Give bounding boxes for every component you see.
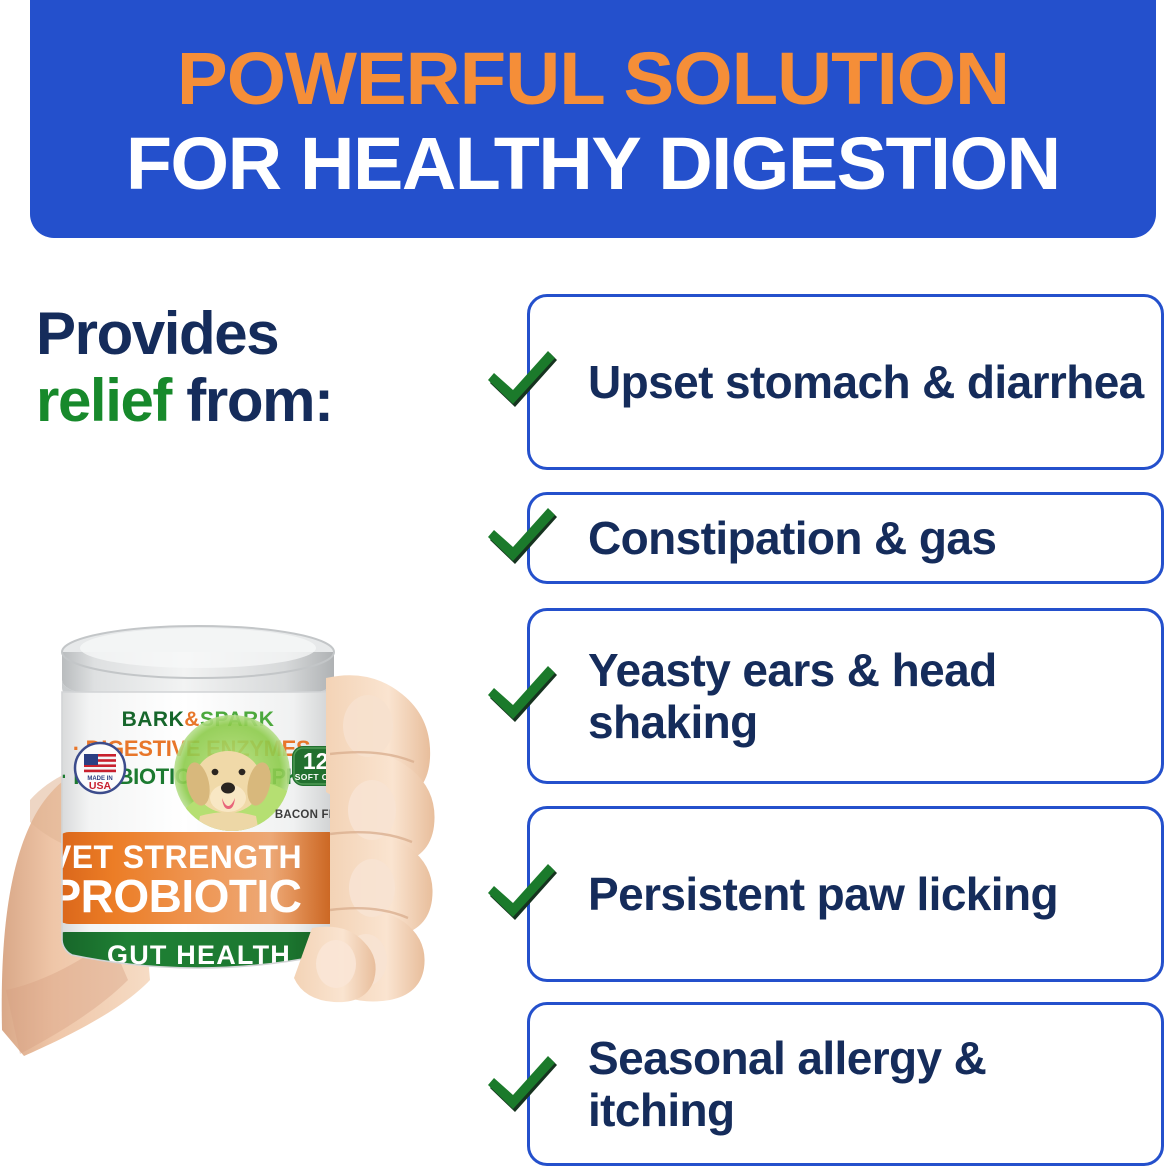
benefit-box-5: Seasonal allergy & itching: [527, 1002, 1164, 1166]
benefit-label-3: Yeasty ears & head shaking: [530, 644, 1161, 749]
headline-word-relief: relief: [36, 367, 171, 434]
benefit-box-2: Constipation & gas: [527, 492, 1164, 584]
benefit-label-1: Upset stomach & diarrhea: [530, 356, 1160, 408]
benefit-box-3: Yeasty ears & head shaking: [527, 608, 1164, 784]
product-photo-hand-holding-jar: BARK&SPARK · DIGESTIVE ENZYMES · · PREBI…: [0, 560, 470, 1060]
headline-word-from: from:: [186, 367, 332, 434]
benefit-box-1: Upset stomach & diarrhea: [527, 294, 1164, 470]
header-banner: POWERFUL SOLUTION FOR HEALTHY DIGESTION: [30, 0, 1156, 238]
badge-usa: USA: [89, 780, 112, 792]
benefit-label-4: Persistent paw licking: [530, 868, 1074, 920]
product-title-line-2: PROBIOTIC: [50, 870, 301, 922]
benefit-box-4: Persistent paw licking: [527, 806, 1164, 982]
benefit-label-2: Constipation & gas: [530, 512, 1012, 564]
made-in-usa-badge: MADE IN USA: [75, 743, 125, 793]
product-title-band: VET STRENGTH PROBIOTIC: [50, 832, 342, 924]
section-headline: Provides relief from:: [36, 300, 506, 434]
infographic-page: POWERFUL SOLUTION FOR HEALTHY DIGESTION …: [0, 0, 1172, 1170]
banner-headline-secondary: FOR HEALTHY DIGESTION: [126, 125, 1060, 203]
benefit-label-5: Seasonal allergy & itching: [530, 1032, 1161, 1137]
banner-headline-primary: POWERFUL SOLUTION: [177, 41, 1009, 116]
headline-word-provides: Provides: [36, 300, 278, 367]
